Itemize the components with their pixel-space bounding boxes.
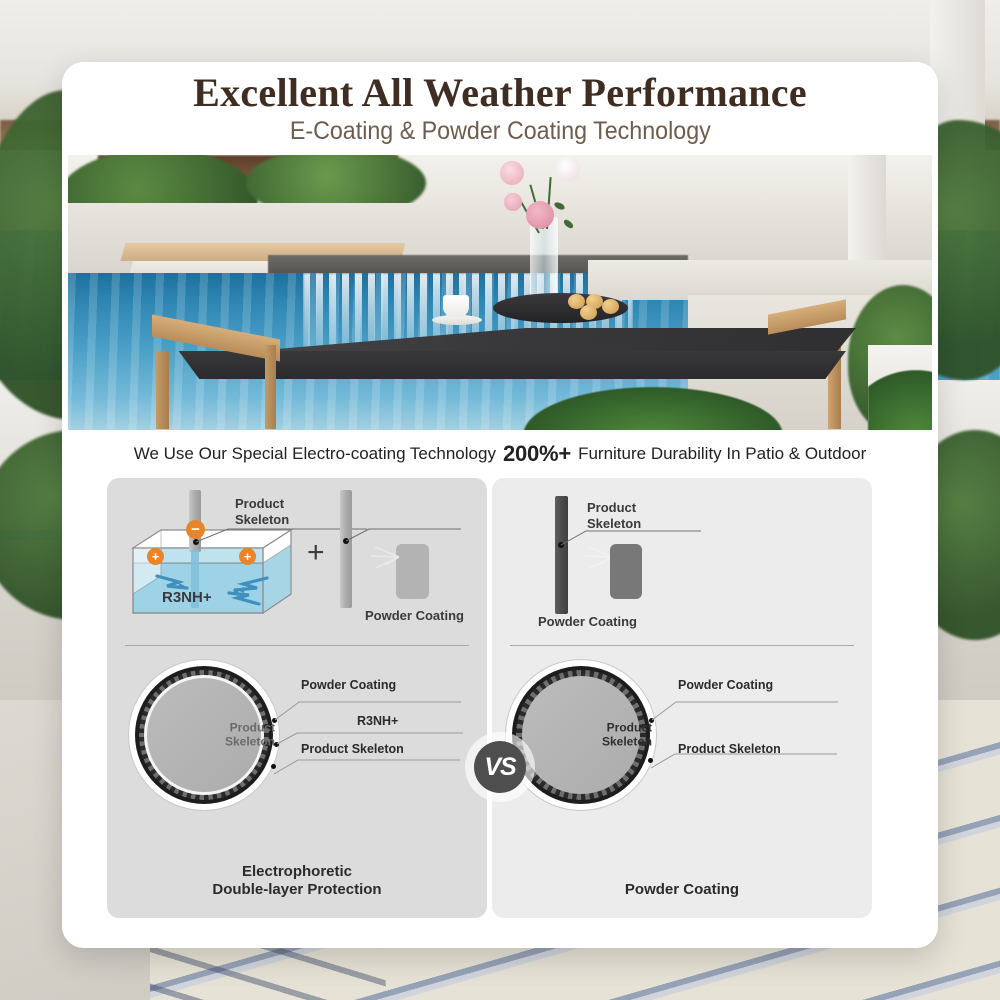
plus-operator: + xyxy=(307,536,325,570)
bath-solution-label: R3NH+ xyxy=(162,589,212,607)
right-spray-gun xyxy=(610,544,642,599)
hero-fern-front xyxy=(523,387,783,430)
panel-powder-top-diagram: Product Skeleton Powder Coating xyxy=(492,478,872,638)
panel-right-caption: Powder Coating xyxy=(492,881,872,900)
panel-electrophoretic-top-diagram: − + + R3NH+ xyxy=(107,478,487,638)
left-core-label: Product Skeleton xyxy=(225,721,275,750)
header: Excellent All Weather Performance E-Coat… xyxy=(62,62,938,155)
hero-rose-1 xyxy=(500,161,524,185)
content-card: Excellent All Weather Performance E-Coat… xyxy=(62,62,938,948)
panel-left-caption: Electrophoretic Double-layer Protection xyxy=(107,863,487,901)
left-product-skeleton-label: Product Skeleton xyxy=(235,496,289,528)
right-product-rod xyxy=(555,496,568,614)
right-product-skeleton-label: Product Skeleton xyxy=(587,500,641,532)
panel-electrophoretic: − + + R3NH+ xyxy=(107,478,487,918)
panel-powder-cross-section: Product Skeleton Powder Coating xyxy=(492,646,872,861)
hero-rose-4 xyxy=(504,193,522,211)
right-powder-coating-label: Powder Coating xyxy=(538,614,637,630)
hero-rose-2 xyxy=(555,157,580,182)
left-powder-coating-label: Powder Coating xyxy=(365,608,464,624)
hero-rose-3 xyxy=(526,201,554,229)
ion-positive-badge-1: + xyxy=(147,548,164,565)
page-title: Excellent All Weather Performance xyxy=(193,72,807,114)
hero-table-leg-left-front xyxy=(156,351,169,429)
hero-pastry-3 xyxy=(602,299,619,314)
tagline-highlight: 200%+ xyxy=(503,441,571,467)
left-cross-section: Product Skeleton xyxy=(129,660,279,810)
hero-pastry-4 xyxy=(580,305,597,320)
hero-table-leg-left-back xyxy=(265,345,276,429)
left-callout-product-skeleton: Product Skeleton xyxy=(301,742,404,756)
tagline: We Use Our Special Electro-coating Techn… xyxy=(62,430,938,478)
panel-powder-coating: Product Skeleton Powder Coating xyxy=(492,478,872,918)
page-subtitle: E-Coating & Powder Coating Technology xyxy=(290,118,711,146)
tagline-after: Furniture Durability In Patio & Outdoor xyxy=(578,444,866,464)
right-callout-product-skeleton: Product Skeleton xyxy=(678,742,781,756)
panel-electrophoretic-cross-section: Product Skeleton Powder Coating xyxy=(107,646,487,861)
hero-fern-right xyxy=(868,370,932,430)
ion-positive-badge-2: + xyxy=(239,548,256,565)
comparison-section: We Use Our Special Electro-coating Techn… xyxy=(62,430,938,948)
right-callout-leader-1 xyxy=(650,688,840,724)
right-callout-powder-coating: Powder Coating xyxy=(678,678,773,692)
left-spray-mist xyxy=(369,544,401,572)
hero-column xyxy=(848,155,886,275)
right-core-label: Product Skeleton xyxy=(602,721,652,750)
hero-flower-vase xyxy=(530,217,558,305)
left-powder-rod xyxy=(340,490,352,608)
comparison-panels: − + + R3NH+ xyxy=(62,478,938,918)
right-cross-section: Product Skeleton xyxy=(506,660,656,810)
hero-photo xyxy=(68,155,932,430)
tagline-before: We Use Our Special Electro-coating Techn… xyxy=(134,444,496,464)
left-callout-powder-coating: Powder Coating xyxy=(301,678,396,692)
vs-badge: VS xyxy=(474,741,526,793)
infographic-stage: Excellent All Weather Performance E-Coat… xyxy=(0,0,1000,1000)
left-callout-r3nh: R3NH+ xyxy=(357,714,398,728)
hero-coffee-cup xyxy=(443,295,469,317)
